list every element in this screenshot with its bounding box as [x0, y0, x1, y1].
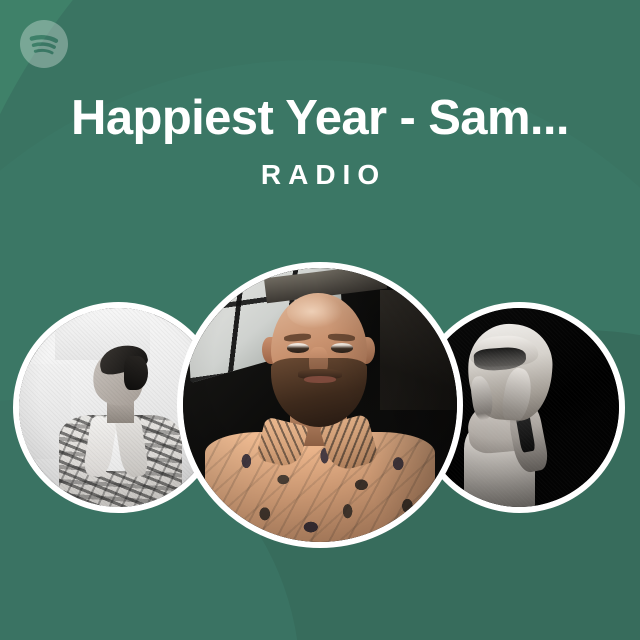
- cover-subtitle: RADIO: [62, 159, 578, 191]
- playlist-cover: Happiest Year - Sam... RADIO: [0, 0, 640, 640]
- cover-text-block: Happiest Year - Sam... RADIO: [0, 92, 640, 191]
- spotify-logo-icon: [20, 20, 68, 68]
- page-title: Happiest Year - Sam...: [62, 92, 578, 145]
- center-photo-shadow: [183, 268, 457, 542]
- artist-photo-center: [177, 262, 463, 548]
- artist-photo-center-image: [183, 268, 457, 542]
